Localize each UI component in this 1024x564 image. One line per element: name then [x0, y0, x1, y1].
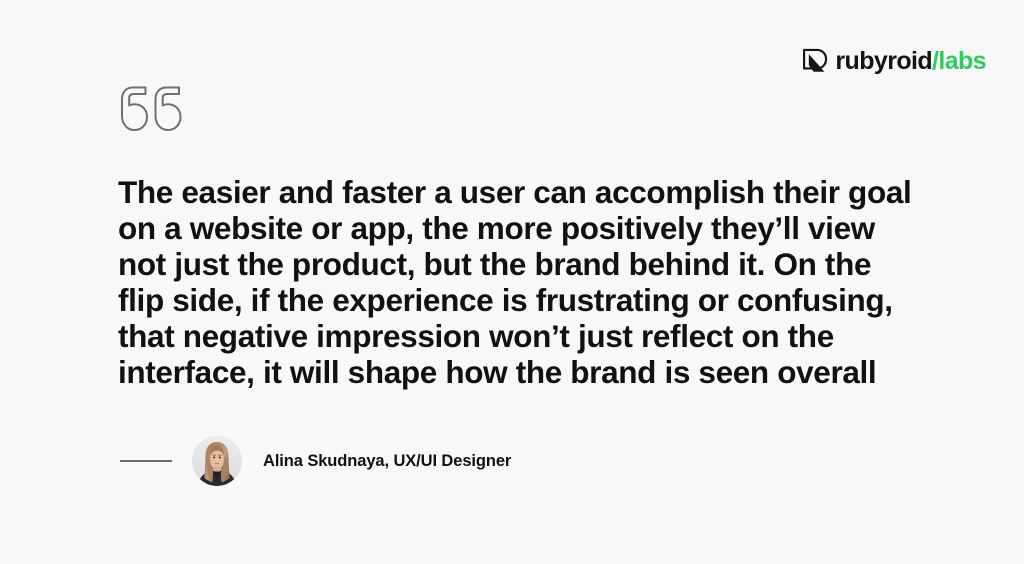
brand-wordmark: rubyroid/labs [835, 49, 986, 74]
rubyroid-diamond-arrow-logo-icon [801, 48, 828, 75]
brand-logo[interactable]: rubyroid/labs [801, 48, 986, 75]
attribution: Alina Skudnaya, UX/UI Designer [120, 436, 511, 486]
brand-name-accent: /labs [932, 47, 986, 75]
author-name-role: Alina Skudnaya, UX/UI Designer [263, 452, 511, 471]
quote-text: The easier and faster a user can accompl… [118, 174, 938, 390]
author-portrait-avatar [192, 436, 242, 486]
brand-name-primary: rubyroid [835, 47, 932, 75]
double-quote-open-icon [119, 84, 183, 134]
quote-slide: rubyroid/labs The easier and faster a us… [0, 0, 1024, 564]
attribution-dash [120, 460, 172, 462]
